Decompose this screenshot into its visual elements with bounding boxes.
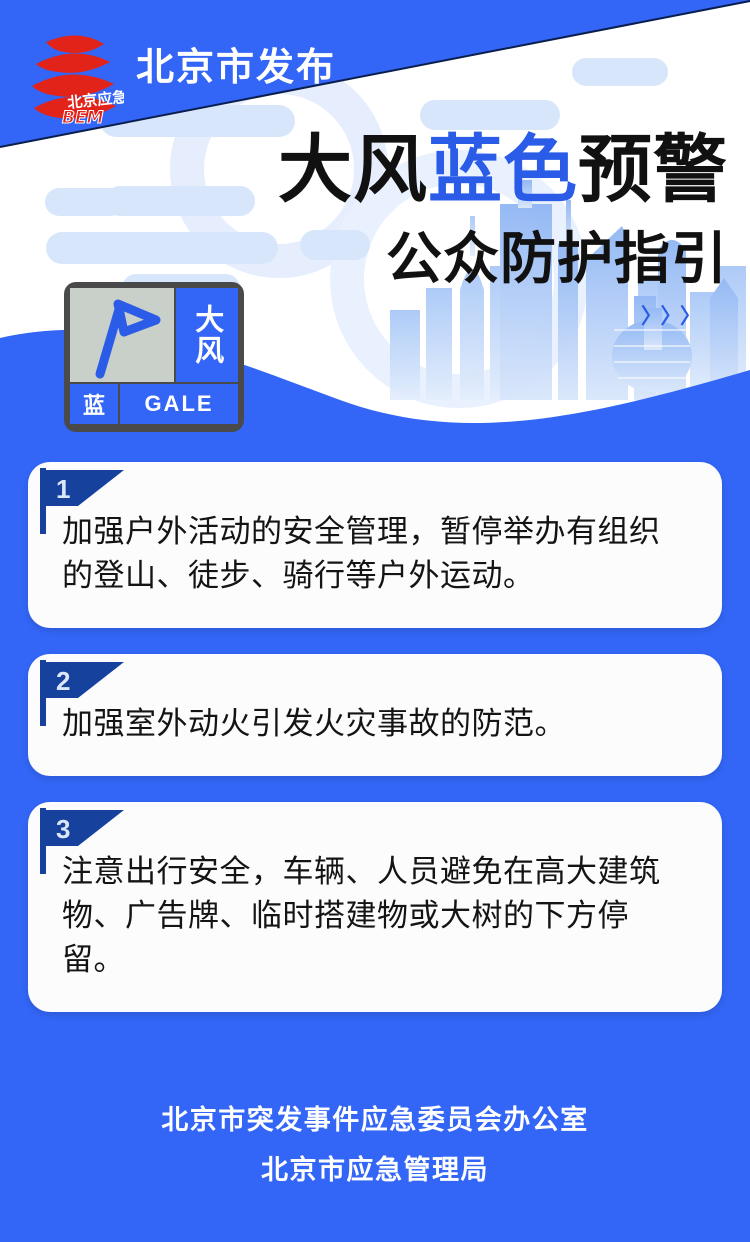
pennant-flag-icon — [32, 806, 138, 876]
main-title: 大风蓝色预警 — [278, 133, 728, 207]
footer-line-1: 北京市突发事件应急委员会办公室 — [0, 1096, 750, 1146]
list-item: 2 加强室外动火引发火灾事故的防范。 — [28, 654, 722, 776]
chevron-right-icon: 〉〉〉 — [641, 300, 710, 330]
item-number: 3 — [56, 814, 70, 845]
main-title-highlight: 蓝色 — [428, 127, 578, 213]
wind-stripe-3 — [105, 186, 255, 216]
wind-flag-icon — [70, 288, 174, 382]
sign-english-label: GALE — [120, 384, 238, 424]
list-item: 1 加强户外活动的安全管理，暂停举办有组织的登山、徒步、骑行等户外运动。 — [28, 462, 722, 628]
subtitle: 公众防护指引 — [386, 232, 728, 288]
sign-level-label: 蓝 — [70, 384, 118, 424]
wind-stripe-8 — [572, 58, 668, 86]
item-number-flag: 3 — [32, 806, 138, 876]
wind-stripe-7 — [420, 100, 560, 130]
sign-type-label: 大风 — [176, 288, 238, 382]
item-text: 注意出行安全，车辆、人员避免在高大建筑物、广告牌、临时搭建物或大树的下方停留。 — [62, 850, 688, 982]
pennant-flag-icon — [32, 658, 138, 728]
bem-logo-icon: 北京应急 BEM — [16, 22, 124, 130]
item-text: 加强户外活动的安全管理，暂停举办有组织的登山、徒步、骑行等户外运动。 — [62, 510, 688, 598]
guideline-card-list: 1 加强户外活动的安全管理，暂停举办有组织的登山、徒步、骑行等户外运动。 2 加… — [0, 462, 750, 1038]
item-number-flag: 2 — [32, 658, 138, 728]
poster-root: 北京应急 BEM 北京市发布 大风蓝色预警 公众防护指引 〉〉〉 大风 蓝 GA… — [0, 0, 750, 1242]
svg-text:BEM: BEM — [62, 108, 104, 128]
item-number: 2 — [56, 666, 70, 697]
list-item: 3 注意出行安全，车辆、人员避免在高大建筑物、广告牌、临时搭建物或大树的下方停留… — [28, 802, 722, 1012]
item-number: 1 — [56, 474, 70, 505]
item-text: 加强室外动火引发火灾事故的防范。 — [62, 702, 688, 746]
pennant-flag-icon — [32, 466, 138, 536]
wind-stripe-5 — [300, 230, 370, 260]
footer: 北京市突发事件应急委员会办公室 北京市应急管理局 — [0, 1096, 750, 1196]
wind-flag-pictogram-box — [70, 288, 174, 382]
item-number-flag: 1 — [32, 466, 138, 536]
main-title-prefix: 大风 — [278, 127, 428, 213]
gale-warning-sign: 大风 蓝 GALE — [64, 282, 244, 432]
main-title-suffix: 预警 — [578, 127, 728, 213]
publisher-title: 北京市发布 — [136, 36, 336, 91]
footer-line-2: 北京市应急管理局 — [0, 1146, 750, 1196]
wind-stripe-4 — [46, 232, 278, 264]
